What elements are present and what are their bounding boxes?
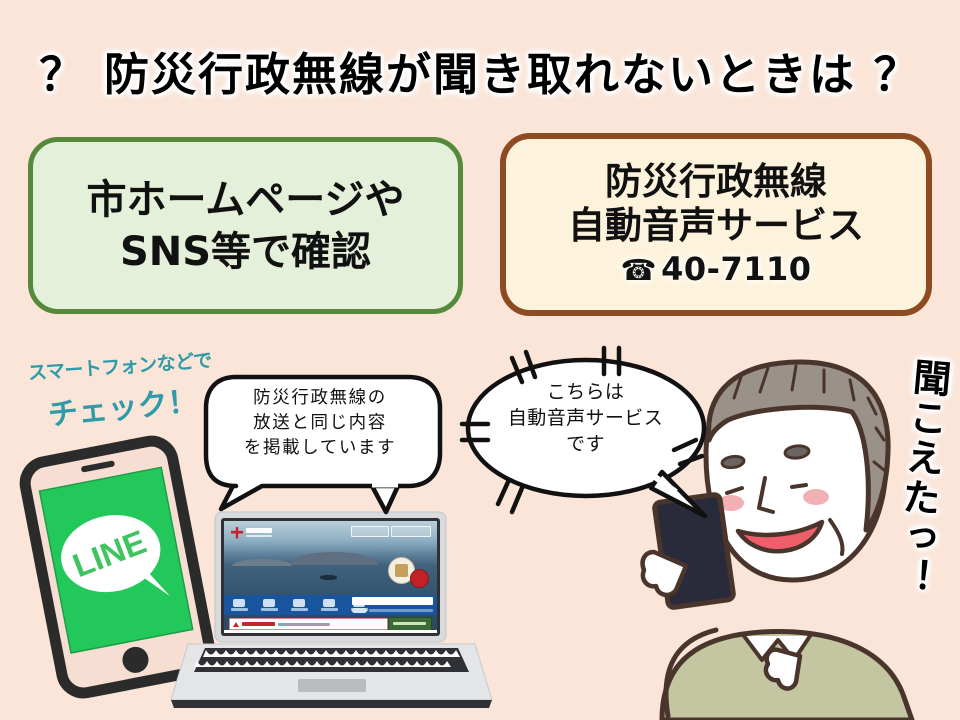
line-balloon: [54, 507, 167, 601]
person-body: [662, 632, 912, 720]
line-wordmark: LINE: [68, 523, 151, 584]
phone-home-button: [120, 645, 150, 675]
line-balloon-tail: [139, 564, 170, 601]
website-bubble-line-3: を掲載しています: [220, 436, 420, 461]
site-quick-link-text: [369, 609, 433, 612]
line-app-icon: LINE: [54, 507, 170, 615]
person-hand-left: [643, 552, 686, 595]
site-alert-body: [278, 623, 330, 626]
smartphone-illustration: LINE: [21, 437, 213, 696]
person-eye-left: [721, 455, 744, 469]
card-phone-service[interactable]: 防災行政無線 自動音声サービス ☎40-7110: [500, 133, 932, 316]
person-eye-right: [784, 445, 809, 459]
person-cheek-line: [830, 520, 843, 554]
website-bubble-line-1: 防災行政無線の: [220, 386, 420, 411]
person-nose: [759, 478, 773, 512]
shout-text: 聞こえたっ！: [892, 356, 959, 599]
site-emergency-alert[interactable]: [229, 618, 388, 630]
voice-bubble-line-2: 自動音声サービス: [478, 405, 693, 431]
laptop-keyboard-area: [194, 648, 469, 672]
page-title: ？ 防災行政無線が聞き取れないときは ？: [0, 38, 960, 103]
site-search-input[interactable]: [352, 597, 433, 605]
phone-speaker: [81, 460, 116, 472]
phone-screen: [40, 467, 193, 653]
voice-service-bubble-text: こちらは 自動音声サービス です: [478, 379, 693, 458]
site-promo-badge-red[interactable]: [410, 569, 429, 588]
site-quick-link-tag[interactable]: [352, 608, 367, 613]
site-header-button-2[interactable]: [391, 526, 431, 537]
city-logo-mark: [231, 527, 243, 539]
website-bubble-text: 防災行政無線の 放送と同じ内容 を掲載しています: [220, 386, 420, 461]
person-blush-left: [718, 495, 744, 511]
site-hero-hill-left: [232, 559, 292, 566]
city-logo-wordmark: [246, 528, 272, 537]
person-blush-right: [803, 489, 829, 505]
site-header-button-1[interactable]: [351, 526, 389, 537]
person-right-arm: [666, 630, 716, 716]
telephone-icon: ☎: [621, 253, 658, 287]
person-phone: [654, 494, 734, 608]
site-nav-item-1[interactable]: [224, 599, 254, 611]
site-hero-boat: [320, 575, 337, 580]
laptop-front-edge: [171, 700, 492, 708]
site-nav-item-2[interactable]: [254, 599, 284, 611]
site-hero-hill: [290, 552, 378, 565]
card-phone-line-2: 自動音声サービス: [568, 204, 864, 248]
card-web-line-2: SNS等で確認: [120, 226, 371, 278]
card-web-line-1: 市ホームページや: [87, 174, 405, 226]
site-alert-title: [242, 622, 275, 626]
site-bottom-strip: [224, 630, 437, 633]
website-bubble-line-2: 放送と同じ内容: [220, 411, 420, 436]
person-hair: [709, 362, 889, 530]
poster-canvas: LINE: [0, 0, 960, 720]
person-head: [706, 366, 886, 580]
laptop-base: [171, 644, 492, 700]
person-brow-right: [792, 485, 806, 487]
person-collar: [744, 636, 810, 660]
laptop-screen-website: [224, 521, 437, 633]
person-brow-left: [727, 488, 742, 493]
phone-number-row: ☎40-7110: [621, 251, 812, 289]
site-logo: [231, 526, 289, 539]
person-hair-strands: [734, 366, 884, 470]
laptop-keys: [194, 650, 460, 667]
voice-bubble-line-1: こちらは: [478, 379, 693, 405]
warning-triangle-icon: [233, 622, 239, 627]
card-phone-line-1: 防災行政無線: [605, 160, 827, 204]
site-quick-links: [352, 607, 433, 613]
person-hand-right: [766, 650, 800, 689]
card-web-check[interactable]: 市ホームページや SNS等で確認: [28, 137, 463, 314]
phone-number: 40-7110: [661, 250, 811, 288]
site-nav-item-4[interactable]: [314, 599, 344, 611]
site-nav-item-3[interactable]: [284, 599, 314, 611]
handwritten-caption: スマートフォンなどで チェック！: [12, 345, 232, 435]
person-mouth: [738, 522, 822, 551]
phone-body: [21, 437, 213, 696]
laptop-trackpad: [298, 679, 366, 692]
voice-bubble-line-3: です: [478, 431, 693, 457]
